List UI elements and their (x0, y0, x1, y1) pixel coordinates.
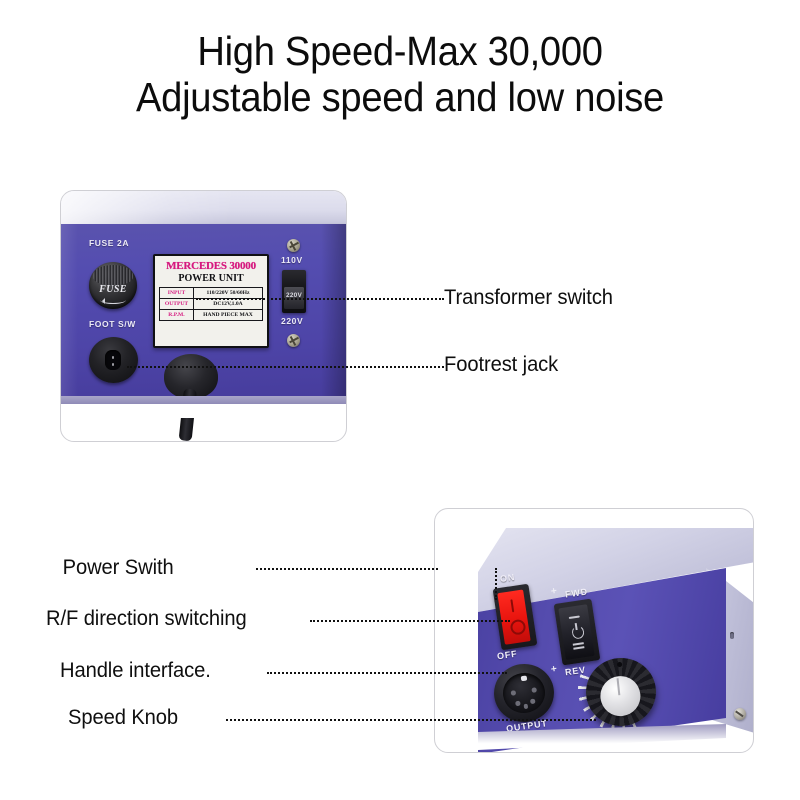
direction-equals-icon (573, 646, 584, 649)
transformer-voltage-switch[interactable]: 220V (282, 270, 306, 313)
speed-knob-center-cap (598, 674, 642, 718)
side-panel-screw-icon (734, 708, 746, 720)
callout-speed-knob: Speed Knob (68, 706, 178, 730)
voltage-110-label: 110V (281, 255, 303, 265)
top-product-photo-card: FUSE 2A FUSE FOOT S/W MERCEDES 30000 POW… (60, 190, 347, 442)
device-front-face: FUSE 2A FUSE FOOT S/W MERCEDES 30000 POW… (60, 224, 347, 402)
spec-key: R.P.M. (160, 310, 194, 321)
specification-nameplate: MERCEDES 30000 POWER UNIT INPUT 110/220V… (153, 254, 269, 348)
foot-jack-pin (112, 356, 115, 359)
foot-jack-bore (105, 350, 121, 370)
speed-knob-indicator-dot (617, 662, 622, 667)
nameplate-subtitle: POWER UNIT (155, 273, 267, 284)
foot-switch-label: FOOT S/W (89, 319, 136, 329)
device-top-lid (60, 190, 347, 226)
table-row: INPUT 110/220V 50/60Hz (160, 288, 263, 299)
din-pin (523, 704, 528, 709)
side-vent-hole-icon (730, 632, 734, 639)
nameplate-brand: MERCEDES 30000 (155, 260, 267, 272)
spec-key: OUTPUT (160, 299, 194, 310)
din-pin (515, 701, 520, 706)
spec-key: INPUT (160, 288, 194, 299)
fuse-holder-icon[interactable]: FUSE (89, 262, 137, 309)
power-on-bar-icon (510, 599, 514, 612)
din-pin (531, 687, 536, 692)
fuse-cap-text: FUSE (89, 284, 137, 295)
direction-power-circle-icon (571, 625, 585, 640)
device-base-underside (60, 404, 347, 418)
infographic-canvas: High Speed-Max 30,000 Adjustable speed a… (0, 0, 800, 800)
leader-line-power-switch-vertical (495, 568, 497, 600)
direction-equals-icon (573, 642, 584, 645)
title-line-2: Adjustable speed and low noise (28, 74, 772, 120)
fwd-plus-icon: + (550, 586, 557, 598)
callout-handle-interface: Handle interface. (60, 659, 211, 683)
spec-value: HAND PIECE MAX (194, 310, 263, 321)
power-off-circle-icon (509, 619, 526, 636)
leader-line-handle-interface (267, 672, 507, 674)
spec-value: DC12V,1.0A (194, 299, 263, 310)
fuse-rotate-arrow-icon (100, 296, 126, 304)
fuse-label: FUSE 2A (89, 238, 129, 248)
table-row: OUTPUT DC12V,1.0A (160, 299, 263, 310)
leader-line-speed-knob (226, 719, 596, 721)
fuse-knurl-texture (93, 265, 133, 285)
leader-line-power-switch (256, 568, 438, 570)
voltage-220-label: 220V (281, 316, 303, 326)
power-switch-red-paddle[interactable] (497, 590, 530, 645)
din-socket-key-icon (521, 675, 528, 681)
table-row: R.P.M. HAND PIECE MAX (160, 310, 263, 321)
callout-power-switch: Power Swith (63, 556, 174, 580)
power-unit-angled-panel: ON OFF + FWD + REV (434, 508, 754, 753)
bottom-product-photo-card: ON OFF + FWD + REV (434, 508, 754, 753)
title-line-1: High Speed-Max 30,000 (28, 28, 772, 74)
panel-screw-top-icon (287, 239, 300, 252)
nameplate-spec-table: INPUT 110/220V 50/60Hz OUTPUT DC12V,1.0A… (159, 287, 263, 321)
leader-line-transformer-switch (196, 298, 444, 300)
spec-value: 110/220V 50/60Hz (194, 288, 263, 299)
callout-transformer-switch: Transformer switch (444, 286, 613, 310)
din-socket-bore (500, 670, 547, 715)
foot-jack-pin (112, 363, 115, 366)
callout-footrest-jack: Footrest jack (444, 353, 558, 377)
power-unit-front-panel: FUSE 2A FUSE FOOT S/W MERCEDES 30000 POW… (60, 190, 347, 418)
callout-rf-direction: R/F direction switching (46, 607, 247, 631)
panel-screw-bottom-icon (287, 334, 300, 347)
din-pin (511, 690, 516, 695)
footrest-jack-socket[interactable] (89, 337, 138, 383)
direction-switch-paddle[interactable] (558, 604, 594, 660)
on-label: ON (499, 572, 515, 584)
leader-line-footrest-jack (127, 366, 444, 368)
rev-plus-icon: + (550, 664, 557, 676)
page-title: High Speed-Max 30,000 Adjustable speed a… (0, 28, 800, 120)
din-pin (530, 699, 535, 704)
leader-line-rf-direction (310, 620, 510, 622)
direction-dash-icon (569, 615, 580, 618)
